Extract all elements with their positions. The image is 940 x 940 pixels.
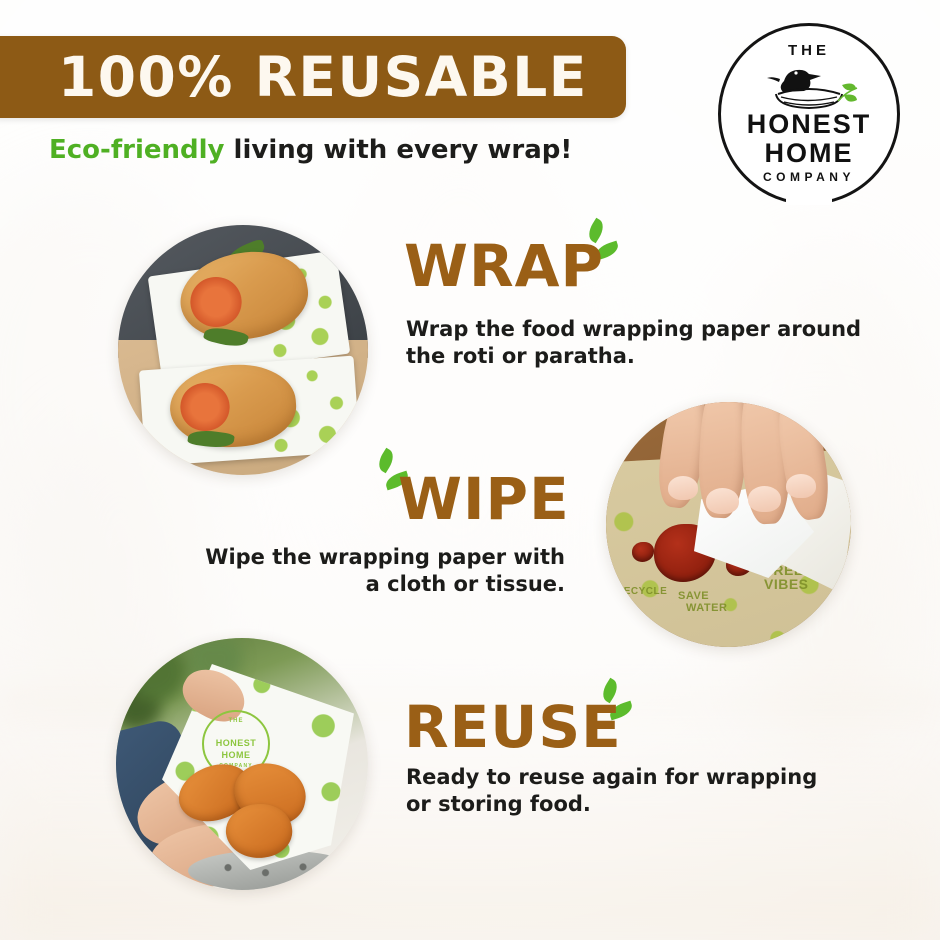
fingernail (786, 474, 816, 498)
brand-logo: THE HONEST HOME COMPANY (718, 23, 900, 205)
photo-content: RECYCLE SAVE WATER GREEN VIBES (606, 402, 851, 647)
wrap-filling (180, 383, 230, 431)
photo-content: THE HONEST HOME COMPANY (116, 638, 368, 890)
step-body-wrap: Wrap the food wrapping paper around the … (406, 316, 876, 370)
step-photo-reuse: THE HONEST HOME COMPANY (116, 638, 368, 890)
badge-honest-text: HONEST (204, 738, 268, 748)
photo-content (118, 225, 368, 475)
subtitle-highlight: Eco-friendly (49, 135, 225, 165)
bird-on-nest-icon (718, 61, 900, 111)
headline-text: 100% REUSABLE (58, 36, 658, 118)
logo-company-text: COMPANY (718, 170, 900, 184)
fingernail (706, 488, 739, 514)
step-heading-reuse: REUSE (404, 693, 622, 761)
subtitle: Eco-friendly living with every wrap! (49, 135, 572, 165)
badge-the-text: THE (204, 718, 268, 724)
subtitle-rest: living with every wrap! (225, 135, 573, 165)
paper-word-vibes: VIBES (764, 576, 809, 592)
logo-home-text: HOME (718, 138, 900, 169)
badge-home-text: HOME (204, 750, 268, 760)
step-photo-wipe: RECYCLE SAVE WATER GREEN VIBES (606, 402, 851, 647)
paper-word-water: WATER (686, 602, 727, 614)
paper-word-save: SAVE (678, 590, 709, 602)
logo-the-text: THE (718, 42, 900, 59)
step-heading-wrap: WRAP (404, 232, 604, 300)
step-body-wipe: Wipe the wrapping paper with a cloth or … (205, 544, 565, 598)
step-photo-wrap (118, 225, 368, 475)
wrap-filling (190, 277, 242, 327)
promo-infographic: 100% REUSABLE Eco-friendly living with e… (0, 0, 940, 940)
step-heading-wipe: WIPE (398, 465, 570, 533)
step-body-reuse: Ready to reuse again for wrapping or sto… (406, 764, 836, 818)
fingernail (668, 476, 698, 500)
fingernail (748, 486, 781, 512)
logo-honest-text: HONEST (718, 109, 900, 140)
paper-word-recycle: RECYCLE (616, 586, 667, 597)
leaf-shape (375, 448, 398, 474)
